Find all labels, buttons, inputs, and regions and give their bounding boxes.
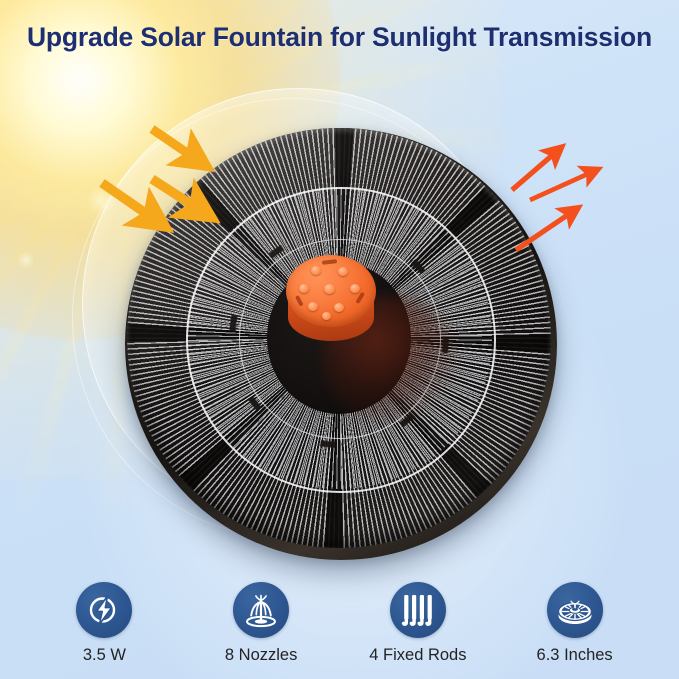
nozzle-jet [324,284,335,294]
nozzle-cap-top [286,255,376,327]
feature-item-size[interactable]: 6.3 Inches [500,582,650,665]
solar-disc-icon [556,593,594,627]
nozzle-jet [311,266,321,275]
feature-item-nozzles[interactable]: 8 Nozzles [186,582,336,665]
feature-badge [390,582,446,638]
nozzle-vent-slot [295,295,303,306]
nozzle-jet [322,312,331,320]
feature-row: 3.5 W 8 Nozzles [0,582,679,665]
product-infographic: Upgrade Solar Fountain for Sunlight Tran… [0,0,679,679]
fixed-rods-icon [401,592,435,628]
feature-item-rods[interactable]: 4 Fixed Rods [343,582,493,665]
feature-badge [547,582,603,638]
nozzle-vent-slot [355,292,364,304]
fountain-icon [242,592,280,628]
nozzle-vent-slot [322,259,337,264]
feature-label: 3.5 W [83,646,126,665]
feature-label: 8 Nozzles [225,646,297,665]
lens-flare-fleck [18,252,34,268]
nozzle-jet [334,303,344,312]
nozzle-jet [350,284,360,293]
feature-item-power[interactable]: 3.5 W [29,582,179,665]
nozzle-jet [299,284,309,293]
feature-label: 6.3 Inches [537,646,613,665]
feature-badge [233,582,289,638]
nozzle-cap [286,255,378,347]
feature-label: 4 Fixed Rods [369,646,466,665]
nozzle-jet [308,302,318,311]
feature-badge [76,582,132,638]
page-title: Upgrade Solar Fountain for Sunlight Tran… [0,22,679,53]
nozzle-jet [338,267,348,276]
lightning-bolt-icon [86,592,122,628]
